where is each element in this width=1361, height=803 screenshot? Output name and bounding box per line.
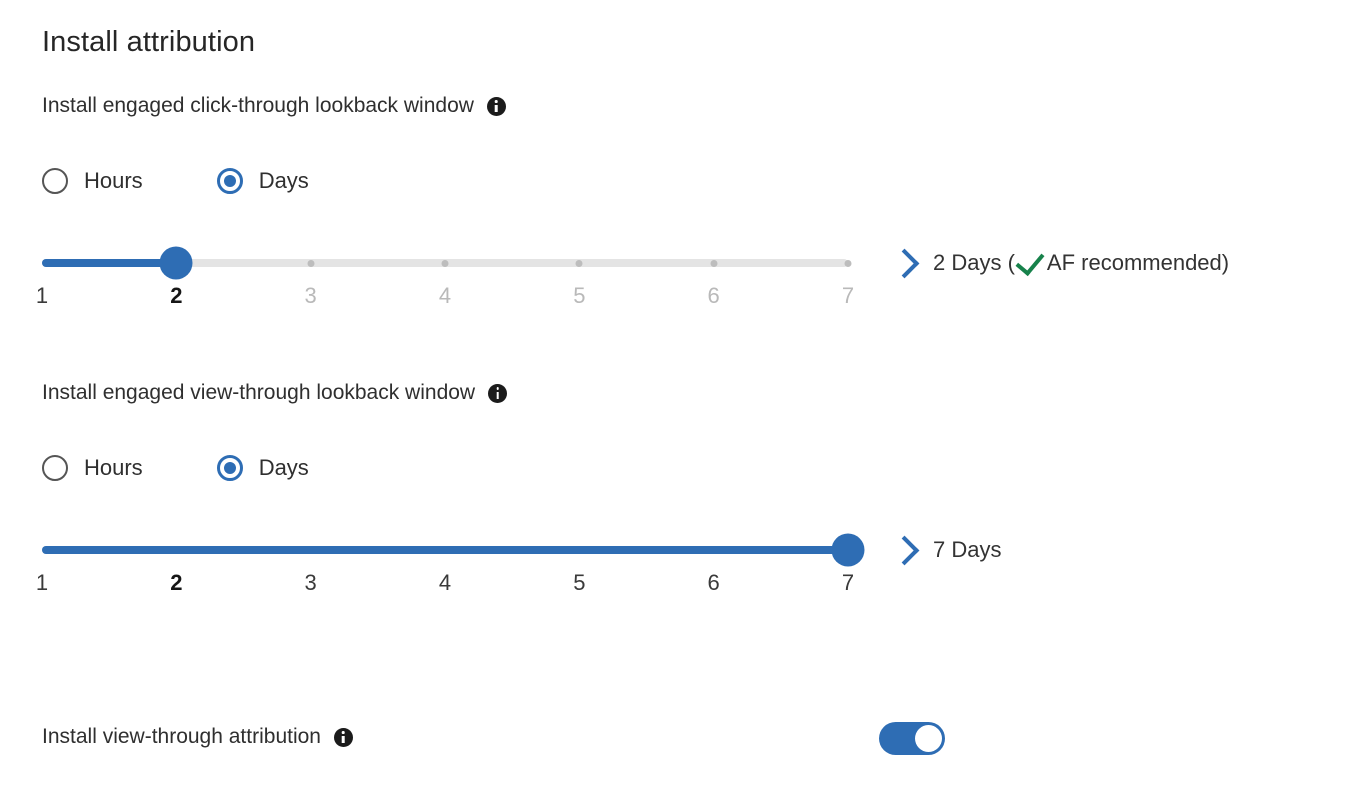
chevron-right-icon (890, 535, 920, 565)
chevron-right-icon (890, 248, 920, 278)
toggle-knob (915, 725, 942, 752)
slider-tick-label[interactable]: 4 (439, 283, 451, 309)
slider-tick-label[interactable]: 1 (36, 570, 48, 596)
slider-tick-label[interactable]: 5 (573, 570, 585, 596)
radio-label-days: Days (259, 455, 309, 481)
slider-tick-label[interactable]: 5 (573, 283, 585, 309)
slider-tick-label[interactable]: 2 (170, 283, 182, 309)
view-through-value-text: 7 Days (933, 537, 1001, 563)
slider-tick-label[interactable]: 7 (842, 283, 854, 309)
view-through-value-readout: 7 Days (894, 536, 1001, 564)
click-through-slider[interactable] (42, 249, 848, 277)
slider-tick-label[interactable]: 4 (439, 570, 451, 596)
slider-tick (442, 260, 449, 267)
slider-fill (42, 546, 848, 554)
slider-tick-label[interactable]: 3 (305, 283, 317, 309)
view-through-unit-radio-group: Hours Days (42, 455, 309, 481)
check-icon (1015, 245, 1044, 275)
value-suffix: AF recommended) (1047, 250, 1229, 276)
view-through-slider[interactable] (42, 536, 848, 564)
slider-tick-label[interactable]: 6 (708, 283, 720, 309)
radio-option-hours-view-through[interactable]: Hours (42, 455, 143, 481)
slider-thumb[interactable] (160, 247, 193, 280)
info-icon[interactable] (487, 97, 506, 116)
view-through-attribution-label: Install view-through attribution (42, 725, 321, 749)
radio-option-hours-click-through[interactable]: Hours (42, 168, 143, 194)
click-through-label-row: Install engaged click-through lookback w… (42, 94, 506, 118)
slider-tick (307, 260, 314, 267)
click-through-unit-radio-group: Hours Days (42, 168, 309, 194)
slider-tick (576, 260, 583, 267)
radio-label-days: Days (259, 168, 309, 194)
radio-mark-hours[interactable] (42, 455, 68, 481)
radio-label-hours: Hours (84, 455, 143, 481)
slider-tick-label[interactable]: 3 (305, 570, 317, 596)
slider-tick-label[interactable]: 6 (708, 570, 720, 596)
slider-tick-label[interactable]: 1 (36, 283, 48, 309)
view-through-attribution-toggle[interactable] (879, 722, 945, 755)
install-attribution-panel: Install attribution Install engaged clic… (0, 0, 1361, 803)
radio-option-days-click-through[interactable]: Days (217, 168, 309, 194)
view-through-label-row: Install engaged view-through lookback wi… (42, 381, 507, 405)
info-icon[interactable] (488, 384, 507, 403)
radio-mark-hours[interactable] (42, 168, 68, 194)
slider-thumb[interactable] (832, 534, 865, 567)
view-through-attribution-label-row: Install view-through attribution (42, 725, 353, 749)
click-through-value-text: 2 Days ( AF recommended) (933, 250, 1229, 276)
click-through-value-readout: 2 Days ( AF recommended) (894, 249, 1229, 277)
view-through-label: Install engaged view-through lookback wi… (42, 381, 475, 405)
radio-mark-days[interactable] (217, 455, 243, 481)
radio-label-hours: Hours (84, 168, 143, 194)
slider-tick-label[interactable]: 7 (842, 570, 854, 596)
page-title: Install attribution (42, 26, 255, 59)
info-icon[interactable] (334, 728, 353, 747)
radio-option-days-view-through[interactable]: Days (217, 455, 309, 481)
slider-fill (42, 259, 176, 267)
click-through-label: Install engaged click-through lookback w… (42, 94, 474, 118)
radio-mark-days[interactable] (217, 168, 243, 194)
view-through-tick-labels: 1234567 (42, 570, 848, 600)
slider-tick (710, 260, 717, 267)
value-prefix: 2 Days ( (933, 250, 1015, 276)
slider-tick-label[interactable]: 2 (170, 570, 182, 596)
click-through-tick-labels: 1234567 (42, 283, 848, 313)
slider-tick (845, 260, 852, 267)
